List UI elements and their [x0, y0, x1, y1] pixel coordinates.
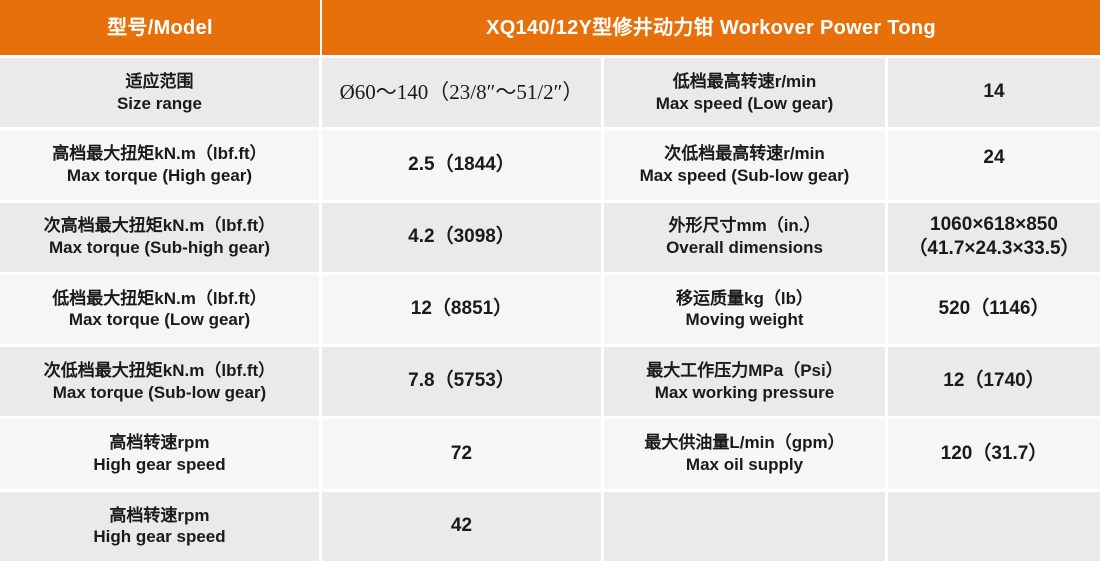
- spec-label-cn: 次低档最大扭矩kN.m（lbf.ft）: [44, 360, 275, 382]
- spec-value-cell: 520（1146）: [888, 275, 1100, 344]
- spec-label-en: Max torque (Low gear): [69, 309, 250, 331]
- spec-value-cell: 72: [322, 419, 604, 488]
- spec-label-cn: 最大供油量L/min（gpm）: [644, 432, 844, 454]
- spec-label-cn: 低档最高转速r/min: [673, 71, 817, 93]
- spec-value: 520（1146）: [939, 297, 1050, 322]
- spec-label-en: Max oil supply: [686, 454, 803, 476]
- spec-value-secondary: （41.7×24.3×33.5）: [908, 237, 1079, 262]
- spec-label-cell: 低档最大扭矩kN.m（lbf.ft） Max torque (Low gear): [0, 275, 322, 344]
- spec-label-cell: 最大供油量L/min（gpm） Max oil supply: [604, 419, 888, 488]
- spec-label-cell: 适应范围 Size range: [0, 58, 322, 127]
- spec-label-en: High gear speed: [93, 454, 225, 476]
- spec-value-cell: 2.5（1844）: [322, 130, 604, 199]
- spec-value: 2.5（1844）: [408, 153, 515, 178]
- spec-value: 72: [451, 442, 472, 467]
- spec-label-en: Max torque (Sub-low gear): [53, 382, 266, 404]
- table-row: 高档最大扭矩kN.m（lbf.ft） Max torque (High gear…: [0, 127, 1100, 199]
- table-header-row: 型号/Model XQ140/12Y型修井动力钳 Workover Power …: [0, 0, 1100, 55]
- spec-label-en: Size range: [117, 93, 202, 115]
- spec-label-cn: 次高档最大扭矩kN.m（lbf.ft）: [44, 215, 275, 237]
- header-cell-model: 型号/Model: [0, 0, 322, 55]
- spec-value: 12（8851）: [411, 297, 512, 322]
- spec-label-cell: 次高档最大扭矩kN.m（lbf.ft） Max torque (Sub-high…: [0, 203, 322, 272]
- spec-value-cell-empty: [888, 492, 1100, 561]
- spec-label-cell: 高档最大扭矩kN.m（lbf.ft） Max torque (High gear…: [0, 130, 322, 199]
- spec-label-cn: 外形尺寸mm（in.）: [668, 215, 820, 237]
- spec-label-cn: 最大工作压力MPa（Psi）: [646, 360, 842, 382]
- spec-label-cell: 高档转速rpm High gear speed: [0, 419, 322, 488]
- table-body: 适应范围 Size range Ø60～140（23/8″～51/2″） 低档最…: [0, 55, 1100, 561]
- specification-table: 型号/Model XQ140/12Y型修井动力钳 Workover Power …: [0, 0, 1100, 561]
- spec-label-en: Overall dimensions: [666, 237, 823, 259]
- spec-label-en: Moving weight: [685, 309, 803, 331]
- spec-label-cell: 低档最高转速r/min Max speed (Low gear): [604, 58, 888, 127]
- spec-value-cell: 12（8851）: [322, 275, 604, 344]
- spec-label-cn: 高档转速rpm: [109, 505, 209, 527]
- spec-label-cn: 移运质量kg（lb）: [676, 288, 813, 310]
- spec-label-en: Max speed (Low gear): [656, 93, 834, 115]
- spec-label-cn: 次低档最高转速r/min: [664, 143, 825, 165]
- spec-label-cell-empty: [604, 492, 888, 561]
- spec-value: 4.2（3098）: [408, 225, 515, 250]
- spec-label-cell: 次低档最高转速r/min Max speed (Sub-low gear): [604, 130, 888, 199]
- table-row: 低档最大扭矩kN.m（lbf.ft） Max torque (Low gear)…: [0, 272, 1100, 344]
- spec-value: 120（31.7）: [941, 442, 1048, 467]
- table-row: 高档转速rpm High gear speed 72 最大供油量L/min（gp…: [0, 416, 1100, 488]
- spec-label-cell: 高档转速rpm High gear speed: [0, 492, 322, 561]
- spec-value: 24: [983, 146, 1004, 171]
- spec-value: 7.8（5753）: [408, 369, 515, 394]
- spec-value-cell: 14: [888, 58, 1100, 127]
- table-row: 高档转速rpm High gear speed 42: [0, 489, 1100, 561]
- spec-label-en: Max speed (Sub-low gear): [640, 165, 850, 187]
- spec-label-en: Max torque (Sub-high gear): [49, 237, 270, 259]
- spec-value-cell: 1060×618×850 （41.7×24.3×33.5）: [888, 203, 1100, 272]
- table-row: 适应范围 Size range Ø60～140（23/8″～51/2″） 低档最…: [0, 55, 1100, 127]
- spec-value-cell: 120（31.7）: [888, 419, 1100, 488]
- spec-value-cell: 7.8（5753）: [322, 347, 604, 416]
- spec-value: 42: [451, 514, 472, 539]
- table-row: 次高档最大扭矩kN.m（lbf.ft） Max torque (Sub-high…: [0, 200, 1100, 272]
- table-row: 次低档最大扭矩kN.m（lbf.ft） Max torque (Sub-low …: [0, 344, 1100, 416]
- spec-label-cell: 移运质量kg（lb） Moving weight: [604, 275, 888, 344]
- spec-value: 1060×618×850: [930, 213, 1058, 238]
- spec-value-cell: 12（1740）: [888, 347, 1100, 416]
- spec-value-cell: Ø60～140（23/8″～51/2″）: [322, 58, 604, 127]
- spec-label-cell: 次低档最大扭矩kN.m（lbf.ft） Max torque (Sub-low …: [0, 347, 322, 416]
- spec-label-cn: 高档最大扭矩kN.m（lbf.ft）: [52, 143, 266, 165]
- spec-label-cn: 适应范围: [125, 71, 193, 93]
- spec-value-cell: 4.2（3098）: [322, 203, 604, 272]
- header-product-label: XQ140/12Y型修井动力钳 Workover Power Tong: [486, 16, 936, 40]
- header-cell-product: XQ140/12Y型修井动力钳 Workover Power Tong: [322, 0, 1100, 55]
- spec-value-cell: 24: [888, 130, 1100, 199]
- spec-label-cell: 最大工作压力MPa（Psi） Max working pressure: [604, 347, 888, 416]
- spec-label-cell: 外形尺寸mm（in.） Overall dimensions: [604, 203, 888, 272]
- spec-label-en: Max working pressure: [655, 382, 835, 404]
- spec-value: 14: [983, 80, 1004, 105]
- spec-label-en: Max torque (High gear): [67, 165, 252, 187]
- header-model-label: 型号/Model: [107, 16, 213, 40]
- spec-label-cn: 高档转速rpm: [109, 432, 209, 454]
- spec-label-cn: 低档最大扭矩kN.m（lbf.ft）: [52, 288, 266, 310]
- spec-label-en: High gear speed: [93, 526, 225, 548]
- spec-value-cell: 42: [322, 492, 604, 561]
- spec-value: Ø60～140（23/8″～51/2″）: [340, 79, 584, 106]
- spec-value: 12（1740）: [943, 369, 1044, 394]
